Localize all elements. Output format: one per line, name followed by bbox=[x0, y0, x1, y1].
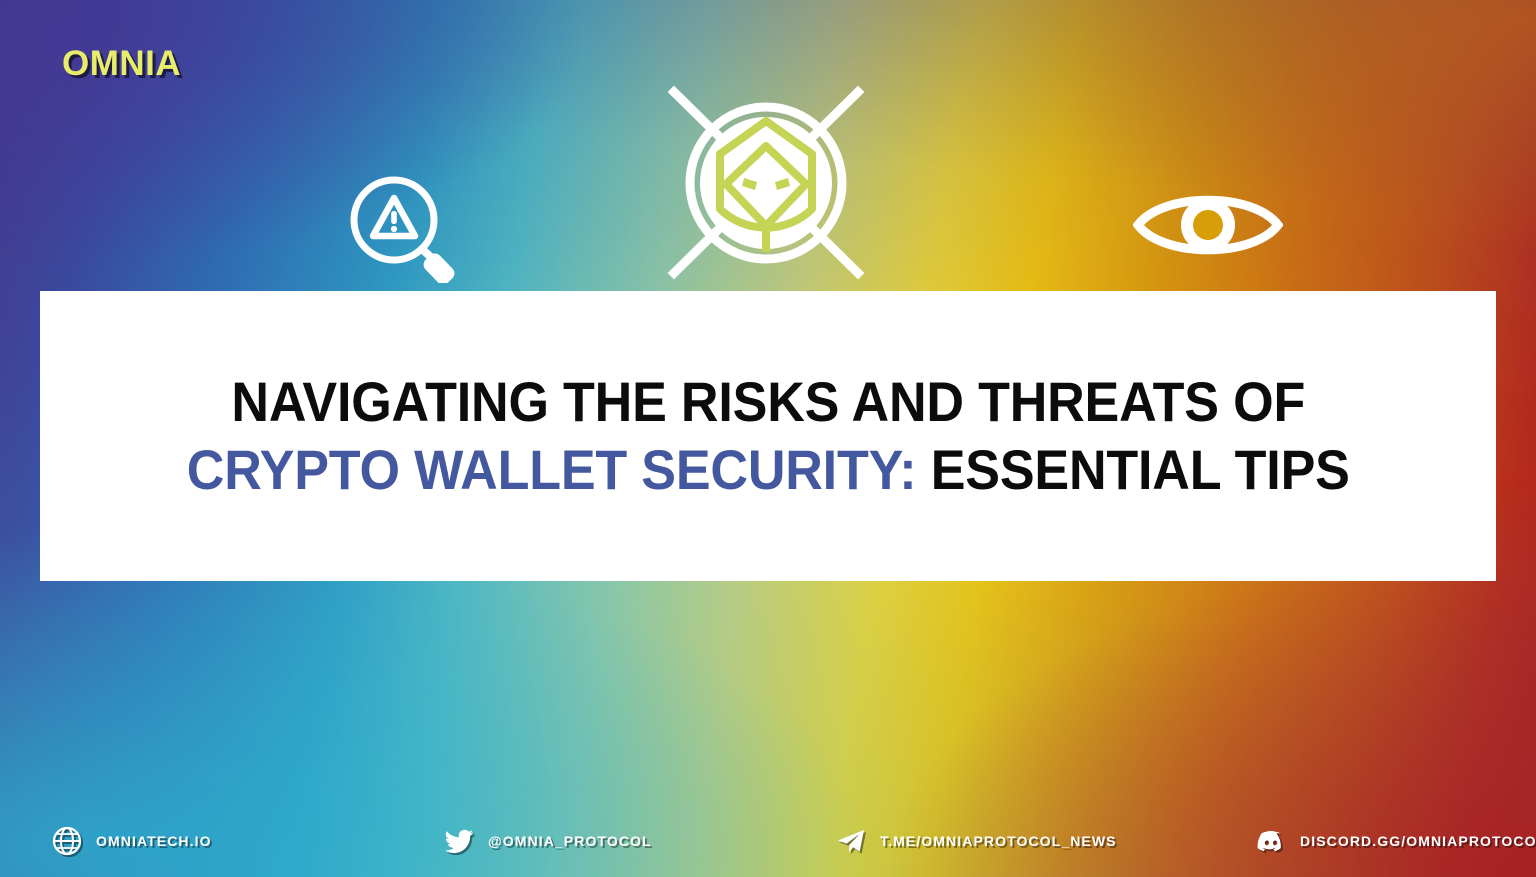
globe-icon bbox=[52, 826, 82, 856]
footer-item-twitter[interactable]: @OMNIA_PROTOCOL bbox=[444, 826, 836, 856]
title-line-1: NAVIGATING THE RISKS AND THREATS OF bbox=[231, 370, 1305, 434]
footer-label-discord: DISCORD.GG/OMNIAPROTOCOL bbox=[1300, 833, 1536, 849]
footer-item-website[interactable]: OMNIATECH.IO bbox=[52, 826, 444, 856]
footer-item-telegram[interactable]: T.ME/OMNIAPROTOCOL_NEWS bbox=[836, 826, 1256, 856]
omnia-logo[interactable]: OMNIA bbox=[62, 44, 181, 84]
footer-label-telegram: T.ME/OMNIAPROTOCOL_NEWS bbox=[880, 833, 1117, 849]
footer-label-website: OMNIATECH.IO bbox=[96, 833, 212, 849]
twitter-icon bbox=[444, 826, 474, 856]
footer-links: OMNIATECH.IO @OMNIA_PROTOCOL T.ME/OMNIAP… bbox=[0, 805, 1536, 877]
footer-label-twitter: @OMNIA_PROTOCOL bbox=[488, 833, 652, 849]
hooded-hacker-crossed-icon bbox=[660, 80, 872, 285]
promo-banner: OMNIA bbox=[0, 0, 1536, 877]
footer-item-discord[interactable]: DISCORD.GG/OMNIAPROTOCOL bbox=[1256, 826, 1536, 856]
discord-icon bbox=[1256, 826, 1286, 856]
magnifier-warning-icon bbox=[345, 173, 463, 283]
title-line-2: CRYPTO WALLET SECURITY: ESSENTIAL TIPS bbox=[187, 438, 1350, 502]
title-accent-text: CRYPTO WALLET SECURITY: bbox=[187, 438, 917, 501]
eye-icon bbox=[1133, 186, 1283, 264]
title-card: NAVIGATING THE RISKS AND THREATS OF CRYP… bbox=[40, 291, 1496, 581]
title-rest-text: ESSENTIAL TIPS bbox=[916, 438, 1349, 501]
telegram-icon bbox=[836, 826, 866, 856]
